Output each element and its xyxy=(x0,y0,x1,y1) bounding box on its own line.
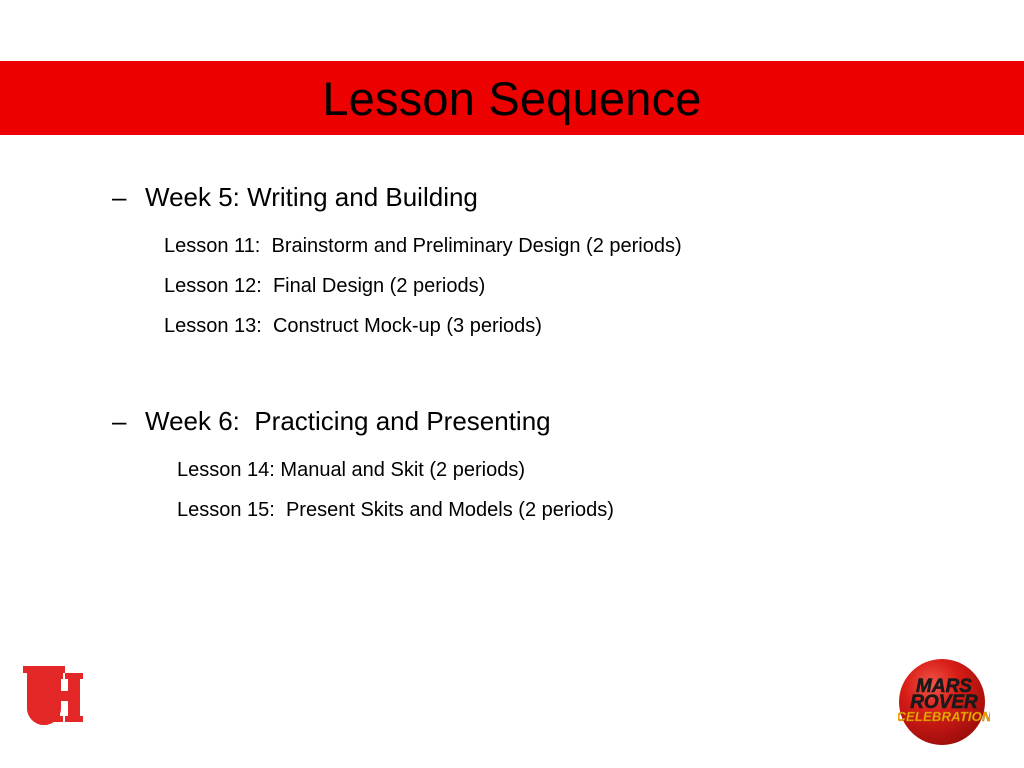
dash-bullet-icon: – xyxy=(112,178,145,216)
list-item: Lesson 11: Brainstorm and Preliminary De… xyxy=(0,226,1024,266)
mars-wordmark-line3: CELEBRATION xyxy=(898,709,990,724)
bullet-group-week-6: – Week 6: Practicing and Presenting Less… xyxy=(0,402,1024,530)
spacer xyxy=(0,216,1024,226)
list-item: Lesson 13: Construct Mock-up (3 periods) xyxy=(0,306,1024,346)
title-banner: Lesson Sequence xyxy=(0,61,1024,135)
list-item: Lesson 12: Final Design (2 periods) xyxy=(0,266,1024,306)
slide-body: – Week 5: Writing and Building Lesson 11… xyxy=(0,178,1024,530)
page-title: Lesson Sequence xyxy=(322,75,701,122)
bullet-group-week-5: – Week 5: Writing and Building Lesson 11… xyxy=(0,178,1024,346)
list-item: Lesson 14: Manual and Skit (2 periods) xyxy=(0,450,1024,490)
university-of-houston-logo xyxy=(22,661,84,727)
list-item: Lesson 15: Present Skits and Models (2 p… xyxy=(0,490,1024,530)
mars-rover-celebration-logo: MARS ROVER CELEBRATION xyxy=(898,655,990,749)
group-spacer xyxy=(0,346,1024,402)
dash-bullet-icon: – xyxy=(112,402,145,440)
spacer xyxy=(0,440,1024,450)
bullet-heading-label: Week 6: Practicing and Presenting xyxy=(145,402,551,440)
bullet-heading-week-5: – Week 5: Writing and Building xyxy=(0,178,1024,216)
slide-canvas: Lesson Sequence – Week 5: Writing and Bu… xyxy=(0,0,1024,768)
bullet-heading-week-6: – Week 6: Practicing and Presenting xyxy=(0,402,1024,440)
bullet-heading-label: Week 5: Writing and Building xyxy=(145,178,478,216)
